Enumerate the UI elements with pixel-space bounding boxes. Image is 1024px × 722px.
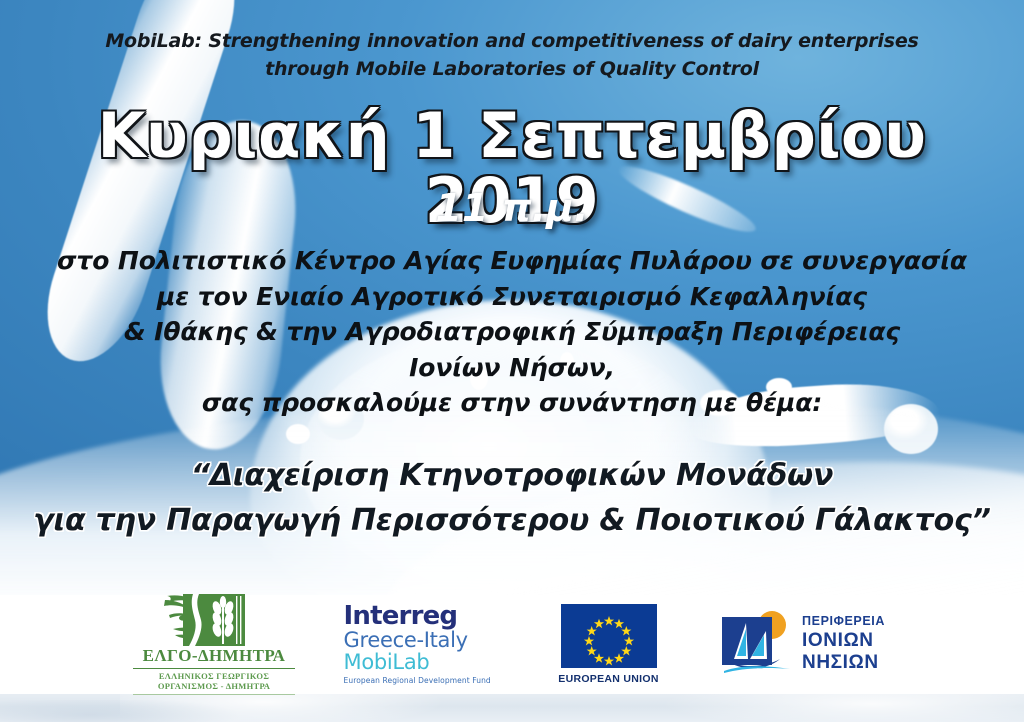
ionian-line-2: ΙΟΝΙΩΝ [802, 630, 885, 653]
project-subtitle-line-1: MobiLab: Strengthening innovation and co… [0, 28, 1024, 56]
elgo-dimitra-wheat-face-icon [139, 594, 289, 646]
logo-bar: ΕΛΓΟ-ΔΗΜΗΤΡΑ ΕΛΛΗΝΙΚΟΣ ΓΕΩΡΓΙΚΟΣ ΟΡΓΑΝΙΣ… [0, 595, 1024, 694]
ionian-line-3: ΝΗΣΙΩΝ [802, 652, 885, 675]
project-subtitle-line-2: through Mobile Laboratories of Quality C… [0, 56, 1024, 84]
ionian-islands-sailboat-sun-icon [720, 609, 794, 681]
elgo-divider [133, 668, 295, 669]
invitation-body-line-3: & Ιθάκης & την Αγροδιατροφική Σύμπραξη Π… [0, 314, 1024, 350]
invitation-body: στο Πολιτιστικό Κέντρο Αγίας Ευφημίας Πυ… [0, 243, 1024, 421]
invitation-body-line-2: με τον Ενιαίο Αγροτικό Συνεταιρισμό Κεφα… [0, 279, 1024, 315]
elgo-divider-bottom [133, 694, 295, 695]
ionian-line-1: ΠΕΡΙΦΕΡΕΙΑ [802, 614, 885, 630]
project-subtitle: MobiLab: Strengthening innovation and co… [0, 28, 1024, 83]
invitation-body-line-4: Ιονίων Νήσων, [0, 350, 1024, 386]
elgo-subtitle-line-1: ΕΛΛΗΝΙΚΟΣ ΓΕΩΡΓΙΚΟΣ [158, 671, 270, 682]
invitation-body-line-1: στο Πολιτιστικό Κέντρο Αγίας Ευφημίας Πυ… [0, 243, 1024, 279]
interreg-project: MobiLab [344, 651, 430, 673]
invitation-poster: MobiLab: Strengthening innovation and co… [0, 0, 1024, 722]
logo-interreg-mobilab: Interreg Greece-Italy MobiLab European R… [342, 604, 510, 686]
elgo-subtitle-line-2: ΟΡΓΑΝΙΣΜΟΣ - ΔΗΜΗΤΡΑ [158, 681, 270, 692]
logo-european-union: EUROPEAN UNION [550, 604, 668, 685]
elgo-subtitle: ΕΛΛΗΝΙΚΟΣ ΓΕΩΡΓΙΚΟΣ ΟΡΓΑΝΙΣΜΟΣ - ΔΗΜΗΤΡΑ [158, 671, 270, 692]
european-union-flag-icon [561, 604, 657, 668]
elgo-name: ΕΛΓΟ-ΔΗΜΗΤΡΑ [143, 647, 286, 666]
meeting-theme: “Διαχείριση Κτηνοτροφικών Μονάδων για τη… [0, 453, 1024, 543]
event-time: 11 π.μ. [0, 186, 1024, 230]
meeting-theme-line-1: “Διαχείριση Κτηνοτροφικών Μονάδων [0, 453, 1024, 498]
interreg-fund: European Regional Development Fund [344, 676, 491, 685]
interreg-programme: Greece-Italy [344, 629, 468, 651]
invitation-body-line-5: σας προσκαλούμε στην συνάντηση με θέμα: [0, 385, 1024, 421]
interreg-brand: Interreg [344, 604, 458, 629]
logo-elgo-dimitra: ΕΛΓΟ-ΔΗΜΗΤΡΑ ΕΛΛΗΝΙΚΟΣ ΓΕΩΡΓΙΚΟΣ ΟΡΓΑΝΙΣ… [127, 594, 302, 695]
eu-label: EUROPEAN UNION [558, 673, 658, 685]
ionian-text-block: ΠΕΡΙΦΕΡΕΙΑ ΙΟΝΙΩΝ ΝΗΣΙΩΝ [802, 614, 885, 675]
meeting-theme-line-2: για την Παραγωγή Περισσότερου & Ποιοτικο… [0, 498, 1024, 543]
logo-ionian-islands-region: ΠΕΡΙΦΕΡΕΙΑ ΙΟΝΙΩΝ ΝΗΣΙΩΝ [708, 609, 898, 681]
